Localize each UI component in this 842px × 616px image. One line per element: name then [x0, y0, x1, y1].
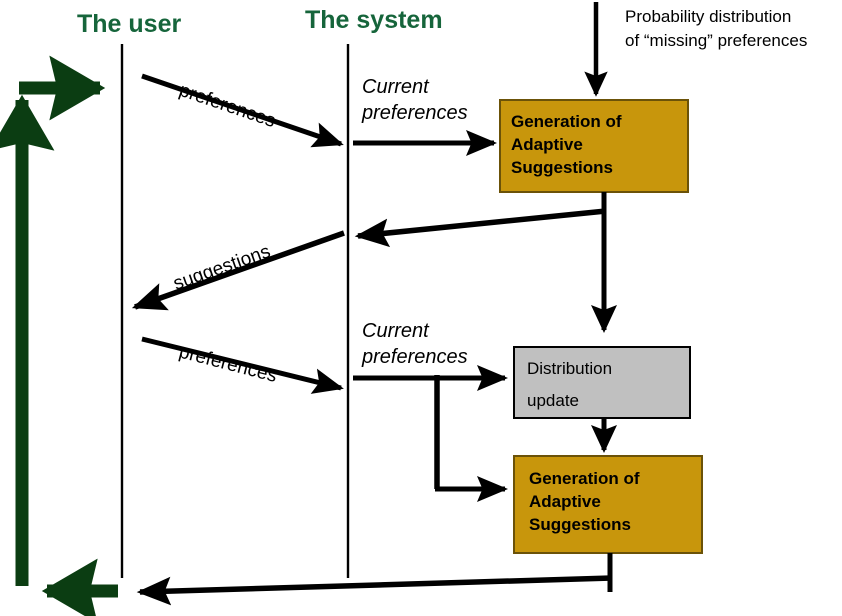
current-preferences-2-line1: Current	[362, 320, 430, 342]
generation-1-line3: Suggestions	[511, 158, 613, 177]
message-label-suggestions-1: suggestions	[171, 241, 274, 295]
distribution-update-line1: Distribution	[527, 359, 612, 378]
lane-title-system: The system	[305, 6, 443, 34]
message-label-preferences-2-group: preferences	[177, 342, 279, 387]
lane-title-user: The user	[77, 10, 181, 38]
current-preferences-1-line1: Current	[362, 76, 430, 98]
generation-2-line1: Generation of	[529, 469, 640, 488]
probability-note-line1: Probability distribution	[625, 7, 791, 26]
generation-2-to-user-arrow	[140, 578, 612, 592]
generation-2-line2: Adaptive	[529, 492, 601, 511]
generation-2-line3: Suggestions	[529, 515, 631, 534]
diagram-svg: The user The system Probability distribu…	[0, 0, 842, 616]
message-label-preferences-1: preferences	[176, 80, 278, 132]
generation-1-to-system-arrow	[358, 211, 606, 236]
diagram-canvas: The user The system Probability distribu…	[0, 0, 842, 616]
distribution-update-line2: update	[527, 391, 579, 410]
message-label-preferences-2: preferences	[177, 342, 279, 387]
generation-1-line1: Generation of	[511, 112, 622, 131]
message-label-suggestions-1-group: suggestions	[171, 241, 274, 295]
current-preferences-2-line2: preferences	[361, 346, 468, 368]
message-label-preferences-1-group: preferences	[176, 80, 278, 132]
generation-1-line2: Adaptive	[511, 135, 583, 154]
current-preferences-1-line2: preferences	[361, 102, 468, 124]
probability-note-line2: of “missing” preferences	[625, 31, 807, 50]
